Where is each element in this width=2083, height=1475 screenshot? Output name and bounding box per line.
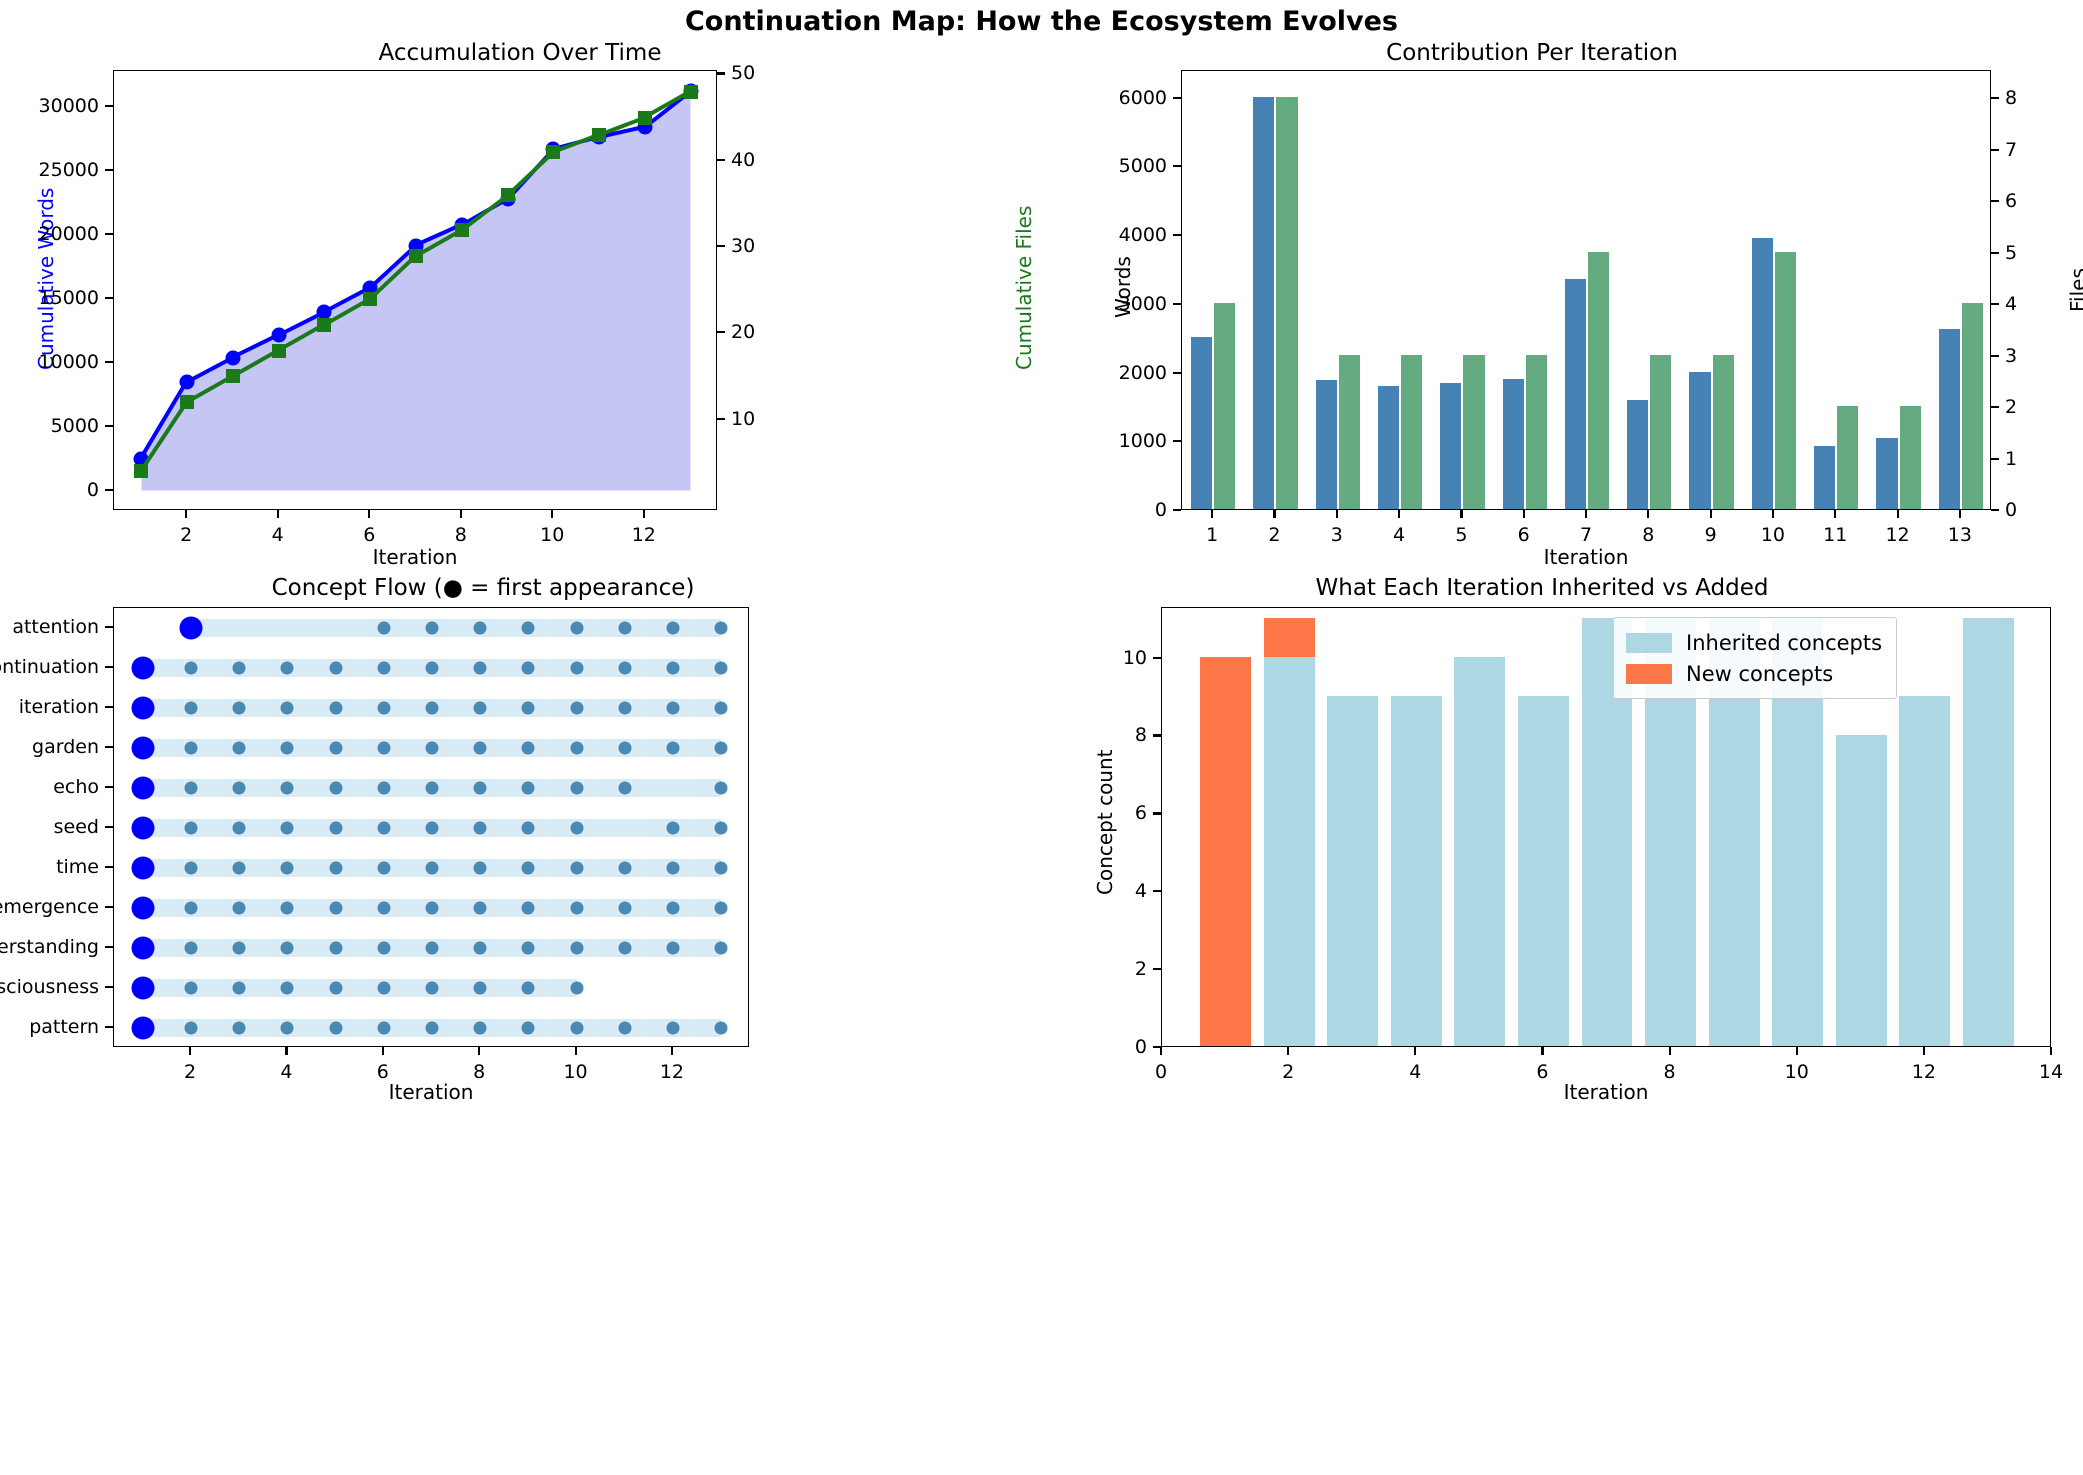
concept-dot xyxy=(377,702,390,715)
concept-dot xyxy=(329,822,342,835)
concept-dot xyxy=(666,622,679,635)
concept-dot xyxy=(522,702,535,715)
x-tick-mark xyxy=(368,510,370,518)
concept-dot xyxy=(474,902,487,915)
bar-files xyxy=(1276,97,1297,509)
x-tick-mark xyxy=(1460,510,1462,518)
y-tick-mark xyxy=(717,159,725,161)
bar-files xyxy=(1713,355,1734,509)
y-tick-label: 7 xyxy=(2005,139,2083,161)
y-tick-label: 25000 xyxy=(13,159,99,181)
x-axis-label-inherited-vs-added: Iteration xyxy=(1564,1080,1649,1104)
concept-dot xyxy=(570,822,583,835)
x-tick-label: 10 xyxy=(1761,524,1785,546)
concept-dot xyxy=(666,742,679,755)
x-tick-label: 2 xyxy=(180,524,192,546)
concept-dot xyxy=(281,822,294,835)
x-tick-label: 6 xyxy=(1536,1061,1548,1083)
x-tick-mark xyxy=(1160,1047,1162,1055)
y-tick-label: 10 xyxy=(731,408,811,430)
x-tick-mark xyxy=(671,1047,673,1055)
bar-words xyxy=(1876,438,1897,509)
concept-label: echo xyxy=(0,776,99,798)
x-tick-mark xyxy=(460,510,462,518)
y-tick-label: 10000 xyxy=(13,351,99,373)
legend-label-inherited: Inherited concepts xyxy=(1686,631,1882,655)
concept-dot xyxy=(715,862,728,875)
concept-dot xyxy=(426,902,439,915)
bar-files xyxy=(1588,252,1609,509)
concept-band xyxy=(191,619,721,637)
bar-words xyxy=(1939,329,1960,509)
bar-words xyxy=(1191,337,1212,509)
x-tick-label: 3 xyxy=(1331,524,1343,546)
y-tick-mark xyxy=(1173,97,1181,99)
bar-words xyxy=(1627,400,1648,509)
concept-first-appearance-dot xyxy=(131,937,154,960)
concept-dot xyxy=(377,822,390,835)
concept-label: attention xyxy=(0,616,99,638)
concept-label: time xyxy=(0,856,99,878)
concept-dot xyxy=(329,862,342,875)
x-tick-mark xyxy=(1647,510,1649,518)
y2-axis-label-cumulative-files: Cumulative Files xyxy=(1012,206,1036,370)
x-tick-label: 2 xyxy=(184,1061,196,1083)
x-tick-mark xyxy=(1523,510,1525,518)
concept-dot xyxy=(474,742,487,755)
y-tick-label: 1 xyxy=(2005,448,2083,470)
concept-dot xyxy=(281,862,294,875)
x-tick-mark xyxy=(1710,510,1712,518)
concept-dot xyxy=(426,662,439,675)
y-tick-mark xyxy=(1173,303,1181,305)
concept-dot xyxy=(474,822,487,835)
y-tick-mark xyxy=(717,418,725,420)
concept-dot xyxy=(474,982,487,995)
concept-first-appearance-dot xyxy=(131,697,154,720)
y-tick-label: 6000 xyxy=(1081,87,1167,109)
concept-dot xyxy=(426,782,439,795)
x-tick-label: 5 xyxy=(1455,524,1467,546)
concept-dot xyxy=(522,982,535,995)
concept-label: consciousness xyxy=(0,976,99,998)
legend-swatch-inherited xyxy=(1626,633,1672,653)
y-tick-label: 2 xyxy=(1061,958,1147,980)
y-tick-label: 5 xyxy=(2005,242,2083,264)
y-tick-label: 1000 xyxy=(1081,430,1167,452)
y-tick-mark xyxy=(105,361,113,363)
concept-dot xyxy=(185,662,198,675)
y-tick-label: 5000 xyxy=(13,415,99,437)
y-tick-label: 0 xyxy=(1081,499,1167,521)
concept-dot xyxy=(715,662,728,675)
concept-dot xyxy=(329,742,342,755)
y-tick-label: 0 xyxy=(1061,1036,1147,1058)
x-tick-mark xyxy=(1336,510,1338,518)
concept-dot xyxy=(329,702,342,715)
y-tick-mark xyxy=(1153,812,1161,814)
concept-dot xyxy=(570,702,583,715)
concept-dot xyxy=(281,982,294,995)
bar-words xyxy=(1503,379,1524,509)
y-tick-mark xyxy=(105,626,113,628)
y-tick-label: 6 xyxy=(1061,802,1147,824)
concept-dot xyxy=(329,902,342,915)
x-tick-mark xyxy=(1541,1047,1543,1055)
x-tick-mark xyxy=(1669,1047,1671,1055)
plot-area-contribution xyxy=(1181,70,1991,510)
bar-inherited-concepts xyxy=(1899,696,1950,1046)
concept-dot xyxy=(570,902,583,915)
concept-first-appearance-dot xyxy=(131,737,154,760)
data-point-marker xyxy=(134,464,148,478)
x-tick-mark xyxy=(1923,1047,1925,1055)
bar-files xyxy=(1526,355,1547,509)
concept-dot xyxy=(281,662,294,675)
bar-files xyxy=(1463,355,1484,509)
y-tick-label: 2 xyxy=(2005,396,2083,418)
concept-dot xyxy=(618,742,631,755)
y-tick-label: 4 xyxy=(2005,293,2083,315)
x-tick-mark xyxy=(1834,510,1836,518)
data-point-marker xyxy=(638,111,652,125)
concept-first-appearance-dot xyxy=(131,1017,154,1040)
y-tick-mark xyxy=(1991,303,1999,305)
concept-dot xyxy=(715,902,728,915)
concept-dot xyxy=(666,702,679,715)
concept-label: pattern xyxy=(0,1016,99,1038)
concept-band xyxy=(143,979,577,997)
y-tick-mark xyxy=(1153,657,1161,659)
bar-files xyxy=(1837,406,1858,509)
bar-inherited-concepts xyxy=(1264,657,1315,1046)
y-tick-mark xyxy=(1991,406,1999,408)
bar-inherited-concepts xyxy=(1836,735,1887,1047)
x-tick-mark xyxy=(2050,1047,2052,1055)
concept-dot xyxy=(185,902,198,915)
concept-dot xyxy=(233,702,246,715)
y-tick-label: 50 xyxy=(731,62,811,84)
y-tick-mark xyxy=(717,72,725,74)
y-tick-mark xyxy=(105,297,113,299)
y-tick-mark xyxy=(105,786,113,788)
plot-area-accumulation xyxy=(113,70,717,510)
concept-label: continuation xyxy=(0,656,99,678)
bar-inherited-concepts xyxy=(1963,618,2014,1046)
concept-dot xyxy=(618,902,631,915)
concept-dot xyxy=(715,622,728,635)
concept-label: emergence xyxy=(0,896,99,918)
y-tick-label: 10 xyxy=(1061,647,1147,669)
y-tick-label: 0 xyxy=(13,479,99,501)
chart-concept-flow: Concept Flow (● = first appearance) Iter… xyxy=(0,575,1040,1475)
x-tick-mark xyxy=(1897,510,1899,518)
x-tick-label: 8 xyxy=(1642,524,1654,546)
x-tick-mark xyxy=(1211,510,1213,518)
x-tick-label: 2 xyxy=(1282,1061,1294,1083)
axes-title-inherited-vs-added: What Each Iteration Inherited vs Added xyxy=(1021,575,2063,601)
y-tick-mark xyxy=(717,245,725,247)
y-tick-mark xyxy=(105,986,113,988)
concept-dot xyxy=(233,942,246,955)
concept-dot xyxy=(522,902,535,915)
y-axis-label-cumulative-words: Cumulative Words xyxy=(34,188,58,370)
axes-title-accumulation: Accumulation Over Time xyxy=(0,40,1040,66)
axes-title-concept-flow: Concept Flow (● = first appearance) xyxy=(0,575,1003,601)
concept-dot xyxy=(281,942,294,955)
concept-dot xyxy=(329,1022,342,1035)
concept-dot xyxy=(618,662,631,675)
bar-files xyxy=(1775,252,1796,509)
bar-new-concepts xyxy=(1200,657,1251,1046)
bar-files xyxy=(1650,355,1671,509)
concept-dot xyxy=(570,862,583,875)
concept-dot xyxy=(474,1022,487,1035)
y-tick-label: 30 xyxy=(731,235,811,257)
y-tick-mark xyxy=(1991,149,1999,151)
bar-words xyxy=(1378,386,1399,509)
concept-dot xyxy=(666,862,679,875)
x-tick-mark xyxy=(551,510,553,518)
concept-dot xyxy=(618,622,631,635)
concept-first-appearance-dot xyxy=(180,617,203,640)
concept-dot xyxy=(522,862,535,875)
y-tick-mark xyxy=(105,169,113,171)
concept-dot xyxy=(715,782,728,795)
concept-dot xyxy=(570,1022,583,1035)
concept-dot xyxy=(185,742,198,755)
concept-dot xyxy=(185,702,198,715)
y-tick-mark xyxy=(1153,734,1161,736)
bar-files xyxy=(1339,355,1360,509)
bar-files xyxy=(1214,303,1235,509)
concept-dot xyxy=(666,662,679,675)
x-tick-label: 12 xyxy=(1912,1061,1936,1083)
x-tick-mark xyxy=(1585,510,1587,518)
concept-dot xyxy=(618,702,631,715)
concept-dot xyxy=(233,662,246,675)
y-tick-mark xyxy=(105,946,113,948)
y-tick-label: 30000 xyxy=(13,95,99,117)
concept-dot xyxy=(377,662,390,675)
x-tick-mark xyxy=(1959,510,1961,518)
concept-dot xyxy=(329,982,342,995)
x-tick-mark xyxy=(1398,510,1400,518)
concept-dot xyxy=(715,702,728,715)
x-tick-mark xyxy=(382,1047,384,1055)
data-point-marker xyxy=(363,292,377,306)
bar-words xyxy=(1253,97,1274,510)
x-tick-mark xyxy=(285,1047,287,1055)
concept-dot xyxy=(233,902,246,915)
y-tick-label: 4 xyxy=(1061,880,1147,902)
concept-dot xyxy=(233,1022,246,1035)
data-point-marker xyxy=(455,223,469,237)
axes-title-contribution: Contribution Per Iteration xyxy=(1011,40,2053,66)
concept-dot xyxy=(474,662,487,675)
y-tick-mark xyxy=(105,866,113,868)
concept-dot xyxy=(570,982,583,995)
figure-canvas: Continuation Map: How the Ecosystem Evol… xyxy=(0,0,2083,1475)
bar-inherited-concepts xyxy=(1454,657,1505,1046)
concept-label: understanding xyxy=(0,936,99,958)
legend-inherited-vs-added: Inherited concepts New concepts xyxy=(1613,617,1897,699)
concept-dot xyxy=(281,902,294,915)
concept-dot xyxy=(281,702,294,715)
x-tick-mark xyxy=(1287,1047,1289,1055)
concept-label: iteration xyxy=(0,696,99,718)
data-point-marker xyxy=(684,85,698,99)
y-tick-label: 3000 xyxy=(1081,293,1167,315)
concept-dot xyxy=(522,662,535,675)
x-tick-label: 6 xyxy=(377,1061,389,1083)
concept-dot xyxy=(522,742,535,755)
x-tick-label: 4 xyxy=(1409,1061,1421,1083)
concept-dot xyxy=(715,742,728,755)
x-tick-label: 8 xyxy=(473,1061,485,1083)
y-tick-label: 8 xyxy=(1061,724,1147,746)
y-tick-mark xyxy=(1173,440,1181,442)
concept-dot xyxy=(715,1022,728,1035)
concept-dot xyxy=(570,662,583,675)
x-tick-label: 0 xyxy=(1155,1061,1167,1083)
legend-label-new: New concepts xyxy=(1686,662,1833,686)
concept-first-appearance-dot xyxy=(131,857,154,880)
concept-dot xyxy=(618,1022,631,1035)
x-tick-label: 9 xyxy=(1705,524,1717,546)
concept-dot xyxy=(666,902,679,915)
concept-dot xyxy=(618,942,631,955)
concept-dot xyxy=(185,982,198,995)
data-point-marker xyxy=(271,328,286,343)
concept-dot xyxy=(618,862,631,875)
concept-first-appearance-dot xyxy=(131,817,154,840)
concept-dot xyxy=(474,702,487,715)
y-tick-mark xyxy=(105,425,113,427)
y-tick-mark xyxy=(105,746,113,748)
concept-dot xyxy=(522,1022,535,1035)
x-tick-label: 8 xyxy=(455,524,467,546)
y-tick-label: 15000 xyxy=(13,287,99,309)
y-tick-mark xyxy=(105,826,113,828)
concept-dot xyxy=(522,622,535,635)
y-tick-mark xyxy=(1153,968,1161,970)
y-tick-mark xyxy=(105,233,113,235)
x-tick-label: 11 xyxy=(1823,524,1847,546)
concept-dot xyxy=(377,902,390,915)
y-tick-mark xyxy=(1153,890,1161,892)
x-tick-mark xyxy=(185,510,187,518)
y-tick-mark xyxy=(1991,252,1999,254)
x-axis-label-accumulation: Iteration xyxy=(373,545,458,569)
bar-files xyxy=(1962,303,1983,509)
x-tick-label: 12 xyxy=(660,1061,684,1083)
y-tick-mark xyxy=(1991,97,1999,99)
x-tick-label: 12 xyxy=(632,524,656,546)
x-tick-mark xyxy=(1772,510,1774,518)
x-tick-label: 10 xyxy=(1785,1061,1809,1083)
y-tick-mark xyxy=(1173,234,1181,236)
data-point-marker xyxy=(546,145,560,159)
bar-words xyxy=(1316,380,1337,509)
y-tick-mark xyxy=(1173,372,1181,374)
bar-words xyxy=(1814,446,1835,509)
y-tick-label: 2000 xyxy=(1081,362,1167,384)
x-tick-label: 14 xyxy=(2039,1061,2063,1083)
concept-dot xyxy=(570,622,583,635)
concept-dot xyxy=(666,942,679,955)
concept-dot xyxy=(522,942,535,955)
bar-inherited-concepts xyxy=(1327,696,1378,1046)
concept-dot xyxy=(377,1022,390,1035)
concept-dot xyxy=(715,822,728,835)
concept-dot xyxy=(522,822,535,835)
bar-words xyxy=(1440,383,1461,509)
y-tick-label: 8 xyxy=(2005,87,2083,109)
plot-area-inherited-vs-added xyxy=(1161,607,2051,1047)
x-tick-label: 4 xyxy=(1393,524,1405,546)
y-tick-label: 20 xyxy=(731,321,811,343)
concept-dot xyxy=(281,1022,294,1035)
concept-dot xyxy=(474,862,487,875)
x-axis-label-concept-flow: Iteration xyxy=(389,1080,474,1104)
y-tick-mark xyxy=(105,105,113,107)
bar-inherited-concepts xyxy=(1518,696,1569,1046)
concept-dot xyxy=(426,742,439,755)
y-tick-mark xyxy=(717,331,725,333)
concept-label: seed xyxy=(0,816,99,838)
concept-dot xyxy=(281,782,294,795)
concept-label: garden xyxy=(0,736,99,758)
concept-first-appearance-dot xyxy=(131,897,154,920)
y-tick-label: 4000 xyxy=(1081,224,1167,246)
x-tick-label: 1 xyxy=(1206,524,1218,546)
bar-new-concepts xyxy=(1264,618,1315,657)
x-tick-label: 4 xyxy=(272,524,284,546)
chart-inherited-vs-added: What Each Iteration Inherited vs Added I… xyxy=(1041,575,2083,1475)
concept-dot xyxy=(377,782,390,795)
concept-dot xyxy=(377,742,390,755)
bar-words xyxy=(1565,279,1586,509)
x-tick-mark xyxy=(277,510,279,518)
concept-dot xyxy=(377,622,390,635)
concept-dot xyxy=(426,702,439,715)
y-tick-mark xyxy=(1991,200,1999,202)
concept-dot xyxy=(233,782,246,795)
x-tick-mark xyxy=(189,1047,191,1055)
legend-item-new[interactable]: New concepts xyxy=(1626,658,1882,689)
concept-dot xyxy=(185,942,198,955)
y-tick-label: 6 xyxy=(2005,190,2083,212)
concept-dot xyxy=(426,1022,439,1035)
concept-dot xyxy=(233,742,246,755)
y-tick-label: 3 xyxy=(2005,345,2083,367)
concept-dot xyxy=(474,942,487,955)
data-point-marker xyxy=(592,128,606,142)
x-tick-mark xyxy=(1414,1047,1416,1055)
concept-first-appearance-dot xyxy=(131,657,154,680)
concept-dot xyxy=(233,862,246,875)
y-tick-label: 20000 xyxy=(13,223,99,245)
y-tick-label: 0 xyxy=(2005,499,2083,521)
chart-contribution-per-iteration: Contribution Per Iteration Iteration Wor… xyxy=(1041,40,2083,580)
concept-dot xyxy=(185,862,198,875)
concept-dot xyxy=(618,782,631,795)
plot-area-concept-flow xyxy=(113,607,749,1047)
legend-item-inherited[interactable]: Inherited concepts xyxy=(1626,627,1882,658)
data-point-marker xyxy=(317,318,331,332)
concept-dot xyxy=(377,942,390,955)
